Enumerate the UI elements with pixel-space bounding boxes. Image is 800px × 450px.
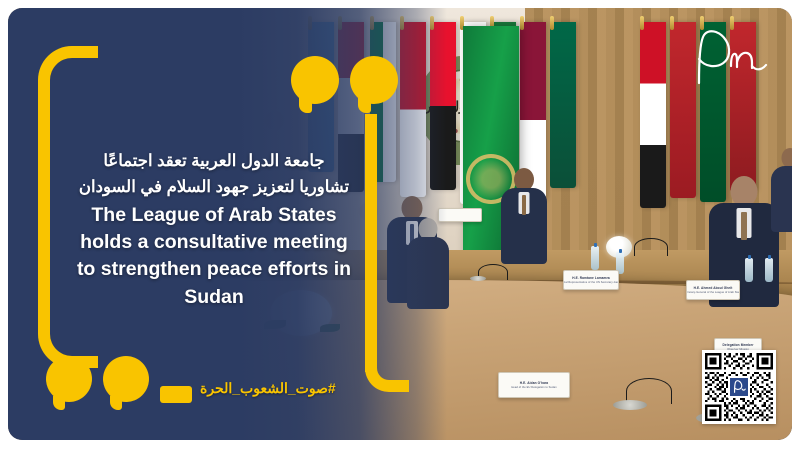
name-plate: H.E. Aidan O'hara Head of the EU Delegat… <box>498 372 570 398</box>
name-plate-title: Head of the EU Delegation to Sudan <box>511 386 556 389</box>
flag <box>640 22 666 208</box>
qr-code[interactable] <box>702 350 776 424</box>
headline-english-line2: holds a consultative meeting <box>54 230 374 254</box>
microphone-base <box>470 276 486 281</box>
participant-body <box>771 166 792 232</box>
headline-english-line3: to strengthen peace efforts in <box>54 257 374 281</box>
image-stage: جامعة الدول العربية <box>8 8 792 440</box>
quote-bubble <box>291 56 339 104</box>
flag <box>550 22 576 188</box>
headline-english-line4: Sudan <box>54 285 374 309</box>
participant-tie <box>741 212 747 240</box>
headline-block: جامعة الدول العربية تعقد اجتماعًا تشاوري… <box>54 148 374 309</box>
flag-pole <box>670 16 674 30</box>
headline-arabic-line2: تشاوريا لتعزيز جهود السلام في السودان <box>54 174 374 200</box>
microphone <box>634 238 668 256</box>
flag-pole <box>520 16 524 30</box>
quote-bubble <box>103 356 149 402</box>
quote-bubble <box>350 56 398 104</box>
quote-dash <box>160 386 192 403</box>
pen-logo <box>686 26 774 88</box>
name-plate-name: H.E. Ahmed Aboul Gheit <box>694 286 733 290</box>
headline-english-line1: The League of Arab States <box>54 203 374 227</box>
name-plate-name: H.E. Aidan O'hara <box>520 381 548 385</box>
news-graphic-card: جامعة الدول العربية <box>0 0 800 450</box>
quote-bubble <box>46 356 92 402</box>
name-plate: H.E. Ahmed Aboul Gheit Secretary-General… <box>686 280 740 300</box>
water-bottle <box>745 258 753 282</box>
name-plate: H.E. Ramtane Lamamra Special Representat… <box>563 270 619 290</box>
microphone-base <box>613 400 647 410</box>
name-plate-name: Delegation Member <box>722 343 753 347</box>
name-plate-name: H.E. Ramtane Lamamra <box>572 276 610 280</box>
flag-pole <box>550 16 554 30</box>
water-bottle <box>765 258 773 282</box>
participant-tie <box>522 195 526 215</box>
name-plate-title: Secretary-General of the League of Arab … <box>686 291 740 294</box>
headline-arabic-line1: جامعة الدول العربية تعقد اجتماعًا <box>54 148 374 174</box>
participant <box>770 148 792 238</box>
participant-head <box>782 148 793 168</box>
qr-code-matrix <box>705 353 773 421</box>
participant <box>500 168 548 278</box>
name-plate-title: Special Representative of the UN Secreta… <box>563 281 619 284</box>
hashtag-label: #صوت_الشعوب_الحرة <box>200 380 336 397</box>
qr-center-logo <box>728 376 750 398</box>
water-bottle <box>591 246 599 270</box>
yellow-bar-right-curve <box>365 348 409 392</box>
flag-pole <box>640 16 644 30</box>
